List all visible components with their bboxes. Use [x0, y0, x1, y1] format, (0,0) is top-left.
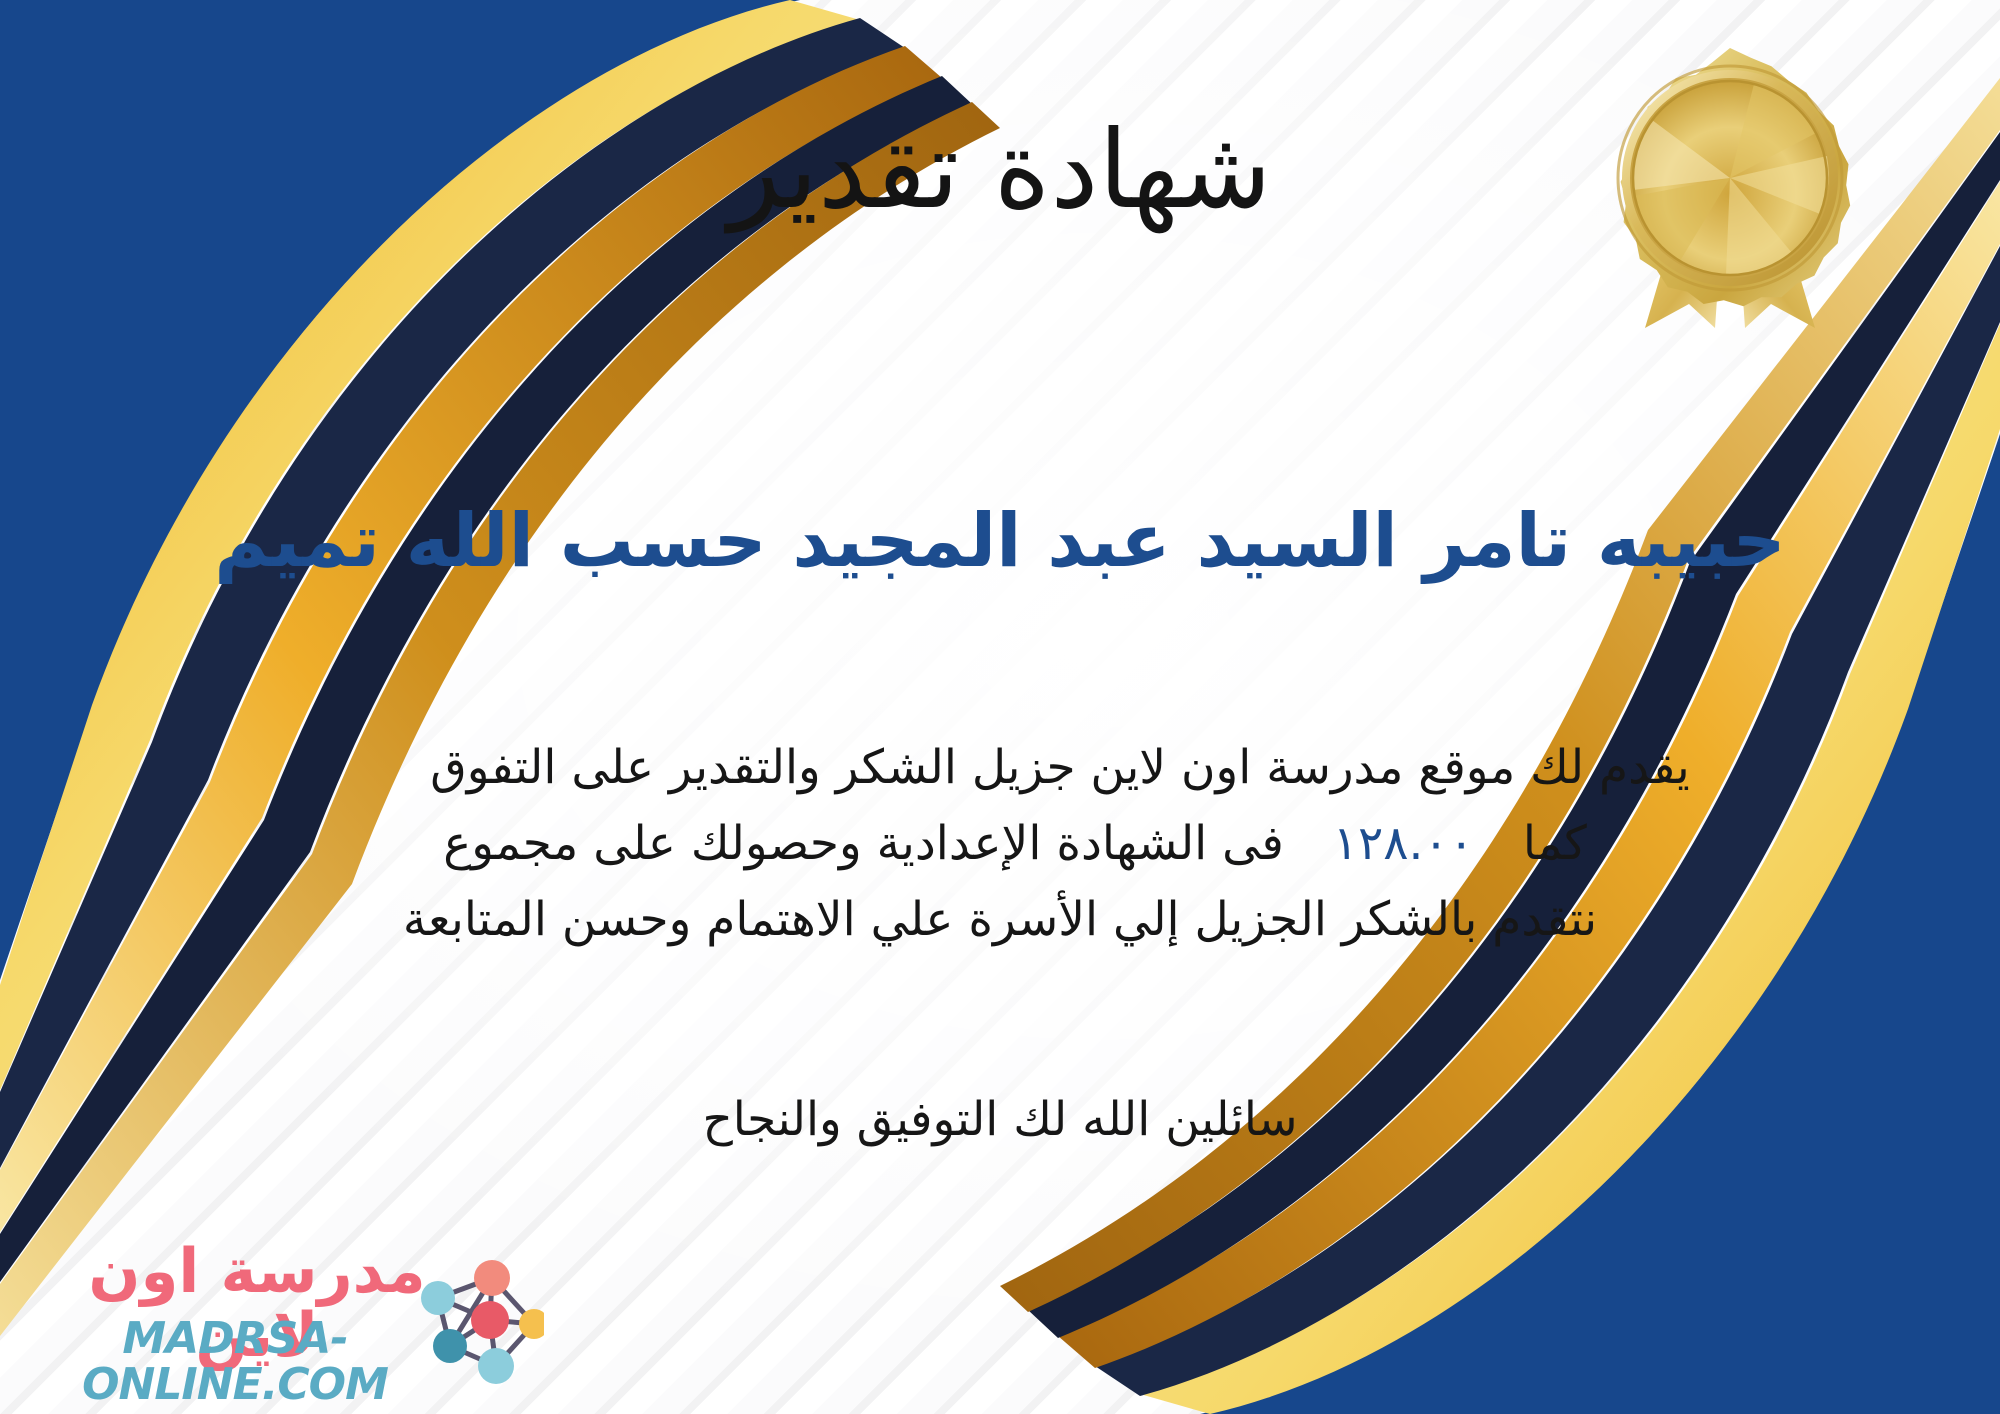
certificate-title: شهادة تقدير — [0, 112, 2000, 231]
logo-website-text: MADRSA-ONLINE.COM — [40, 1316, 430, 1408]
closing-line: سائلين الله لك التوفيق والنجاح — [0, 1092, 2000, 1147]
certificate-page: شهادة تقدير حبيبه تامر السيد عبد المجيد … — [0, 0, 2000, 1414]
network-nodes-icon — [414, 1248, 544, 1388]
site-logo[interactable]: مدرسة اون لاين MADRSA-ONLINE.COM — [22, 1236, 492, 1396]
certificate-body: يقدم لك موقع مدرسة اون لاين جزيل الشكر و… — [150, 730, 1850, 958]
body-line-2: كما ١٢٨.٠٠ فى الشهادة الإعدادية وحصولك ع… — [150, 806, 1850, 882]
student-name: حبيبه تامر السيد عبد المجيد حسب الله تمي… — [40, 495, 1960, 588]
body-line-2-prefix: فى الشهادة الإعدادية وحصولك على مجموع — [443, 816, 1284, 871]
body-line-3: نتقدم بالشكر الجزيل إلي الأسرة علي الاهت… — [150, 882, 1850, 958]
body-line-1: يقدم لك موقع مدرسة اون لاين جزيل الشكر و… — [150, 730, 1850, 806]
body-line-2-suffix: كما — [1523, 816, 1587, 871]
score-value: ١٢٨.٠٠ — [1299, 806, 1508, 882]
